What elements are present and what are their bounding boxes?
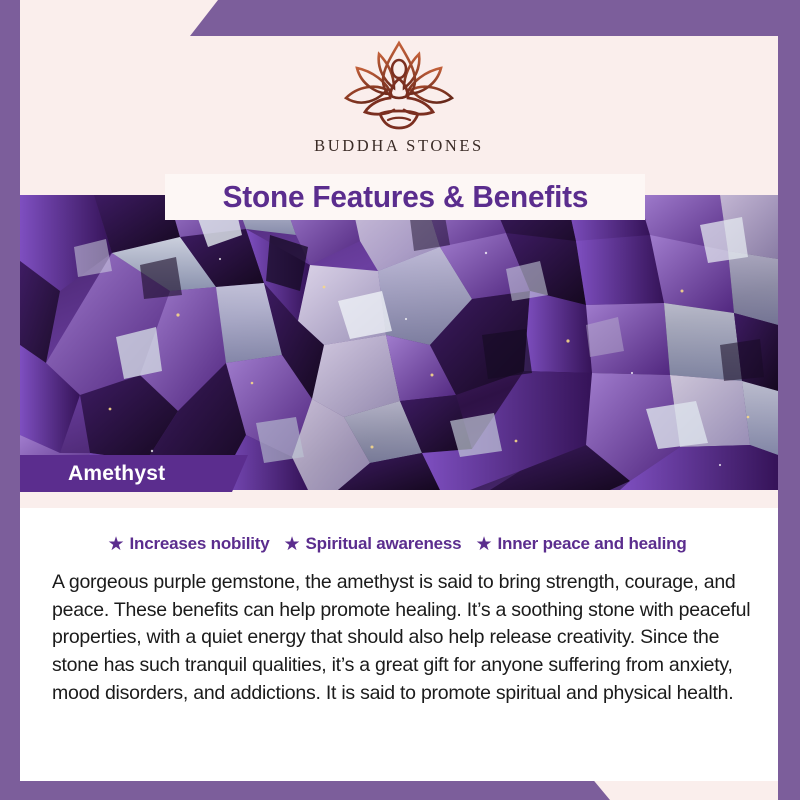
stone-description: A gorgeous purple gemstone, the amethyst…: [38, 569, 756, 707]
frame-band-left: [0, 0, 20, 800]
benefit-item-1: ★ Increases nobility: [107, 534, 269, 554]
frame-band-top: [0, 0, 800, 36]
stone-name-tag: Amethyst: [20, 455, 248, 492]
benefit-item-2: ★ Spiritual awareness: [284, 534, 462, 554]
benefit-label: Spiritual awareness: [306, 534, 462, 554]
benefit-label: Inner peace and healing: [497, 534, 686, 554]
content-card: BUDDHA STONES: [20, 36, 778, 781]
photo-divider: [20, 490, 778, 508]
benefit-item-3: ★ Inner peace and healing: [475, 534, 686, 554]
lotus-meditation-icon: [332, 38, 466, 134]
brand-name: BUDDHA STONES: [314, 136, 484, 156]
star-icon: ★: [475, 535, 492, 554]
frame-band-right: [778, 0, 800, 800]
benefit-label: Increases nobility: [129, 534, 269, 554]
star-icon: ★: [107, 535, 124, 554]
page-title-band: Stone Features & Benefits: [165, 174, 645, 220]
stone-details-panel: ★ Increases nobility ★ Spiritual awarene…: [20, 508, 778, 781]
amethyst-crystal-cluster-photo: [20, 195, 778, 490]
page-title: Stone Features & Benefits: [222, 179, 588, 215]
stone-name: Amethyst: [68, 462, 165, 486]
star-icon: ★: [284, 535, 301, 554]
poster-root: BUDDHA STONES: [0, 0, 800, 800]
benefits-list: ★ Increases nobility ★ Spiritual awarene…: [38, 534, 756, 554]
